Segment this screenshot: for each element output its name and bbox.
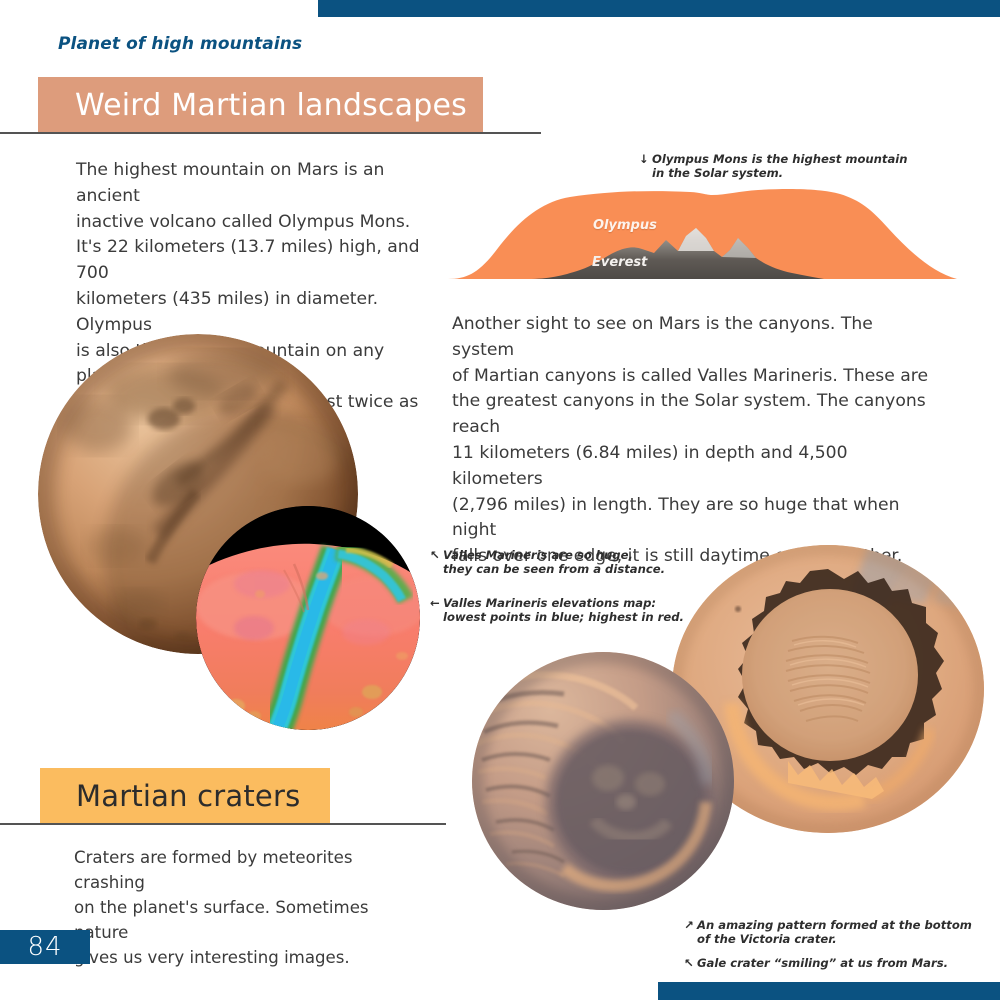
section-heading-craters: Martian craters — [40, 768, 330, 823]
paragraph-craters: Craters are formed by meteorites crashin… — [74, 845, 424, 970]
arrow-up-left-icon: ↖ — [684, 956, 697, 971]
valles-marineris-elevation-map-photo — [196, 506, 420, 730]
caption-gale-crater-text: Gale crater “smiling” at us from Mars. — [697, 956, 948, 970]
section-heading-craters-label: Martian craters — [76, 779, 300, 813]
caption-gale-crater: ↖Gale crater “smiling” at us from Mars. — [697, 941, 997, 970]
page-number: 84 — [0, 930, 90, 964]
diagram-label-olympus: Olympus — [593, 218, 657, 233]
diagram-olympus-svg — [440, 180, 970, 282]
page-kicker: Planet of high mountains — [58, 34, 302, 54]
section-heading-landscapes: Weird Martian landscapes — [38, 77, 483, 133]
page-canvas: Planet of high mountains Weird Martian l… — [0, 0, 1000, 1000]
arrow-up-left-icon: ↖ — [430, 548, 443, 563]
heading-rule-landscapes — [0, 132, 541, 134]
caption-victoria-crater: ↗An amazing pattern formed at the bottom… — [697, 903, 997, 947]
caption-valles-marineris-map-text: Valles Marineris elevations map: lowest … — [443, 596, 684, 625]
diagram-label-everest: Everest — [592, 255, 647, 270]
arrow-left-icon: ← — [430, 596, 443, 611]
caption-valles-marineris-huge-text: Valles Marineris are so huge, they can b… — [443, 548, 665, 577]
gale-crater-art — [472, 652, 734, 910]
section-heading-landscapes-label: Weird Martian landscapes — [75, 88, 467, 123]
arrow-down-icon: ↓ — [639, 152, 652, 167]
paragraph-canyons: Another sight to see on Mars is the cany… — [452, 312, 932, 570]
caption-olympus-mons-text: Olympus Mons is the highest mountain in … — [652, 152, 908, 181]
arrow-up-right-icon: ↗ — [684, 918, 697, 933]
vm-map-art — [196, 506, 420, 730]
caption-valles-marineris-huge: ↖Valles Marineris are so huge, they can … — [443, 533, 683, 577]
bottom-accent-bar — [658, 982, 1000, 1000]
caption-olympus-mons: ↓Olympus Mons is the highest mountain in… — [652, 137, 972, 181]
heading-rule-craters — [0, 823, 446, 825]
top-accent-bar — [318, 0, 1000, 17]
caption-valles-marineris-map: ←Valles Marineris elevations map: lowest… — [443, 581, 693, 625]
diagram-olympus-vs-everest: Olympus Everest — [440, 180, 970, 282]
gale-crater-photo — [472, 652, 734, 910]
